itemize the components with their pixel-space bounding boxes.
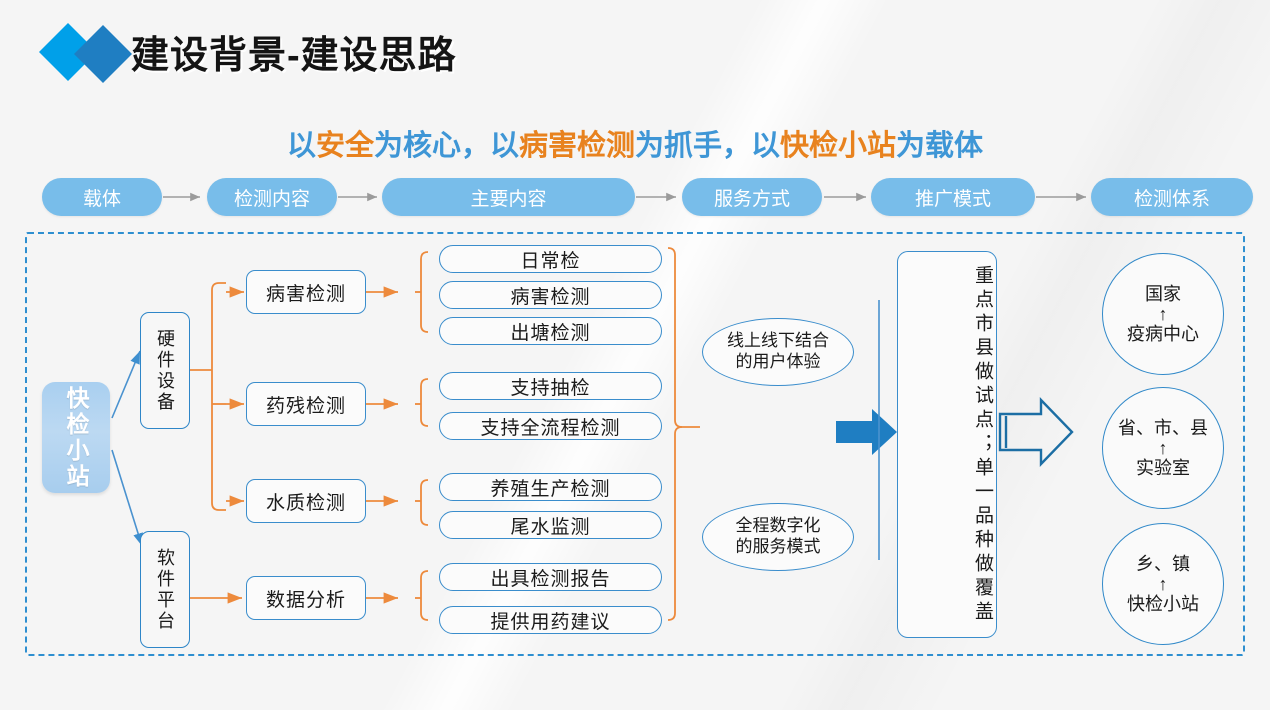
node-hardware-equipment[interactable]: 硬件设备	[140, 312, 190, 429]
node-category-disease[interactable]: 病害检测	[246, 270, 366, 314]
oval-line-2: 的服务模式	[736, 537, 821, 558]
node-leaf-spot-check[interactable]: 支持抽检	[439, 372, 662, 400]
node-station[interactable]: 快检小站	[42, 382, 110, 493]
oval-line-1: 线上线下结合	[727, 331, 829, 352]
circle-bottom-label: 实验室	[1136, 458, 1190, 478]
node-pilot-strategy[interactable]: 重点市县做试点；单一品种做覆盖	[897, 251, 997, 638]
up-arrow-icon: ↑	[1159, 439, 1168, 457]
node-software-platform[interactable]: 软件平台	[140, 531, 190, 648]
node-leaf-tail-water[interactable]: 尾水监测	[439, 511, 662, 539]
node-leaf-aqua-production[interactable]: 养殖生产检测	[439, 473, 662, 501]
node-leaf-drug-advice[interactable]: 提供用药建议	[439, 606, 662, 634]
node-leaf-disease-check[interactable]: 病害检测	[439, 281, 662, 309]
node-oval-digital-service[interactable]: 全程数字化 的服务模式	[702, 503, 854, 571]
node-leaf-daily-check[interactable]: 日常检	[439, 245, 662, 273]
oval-line-2: 的用户体验	[736, 352, 821, 373]
diagram-connectors-layer	[0, 0, 1270, 710]
oval-line-1: 全程数字化	[736, 516, 821, 537]
circle-bottom-label: 疫病中心	[1127, 324, 1199, 344]
node-circle-provincial[interactable]: 省、市、县 ↑ 实验室	[1102, 387, 1224, 509]
node-circle-township[interactable]: 乡、镇 ↑ 快检小站	[1102, 523, 1224, 645]
node-category-water[interactable]: 水质检测	[246, 479, 366, 523]
node-leaf-full-process[interactable]: 支持全流程检测	[439, 412, 662, 440]
node-circle-national[interactable]: 国家 ↑ 疫病中心	[1102, 253, 1224, 375]
circle-top-label: 乡、镇	[1136, 554, 1190, 574]
node-category-residue[interactable]: 药残检测	[246, 382, 366, 426]
node-category-analysis[interactable]: 数据分析	[246, 576, 366, 620]
circle-bottom-label: 快检小站	[1127, 594, 1199, 614]
hollow-right-arrow	[1000, 400, 1072, 464]
circle-top-label: 国家	[1145, 284, 1181, 304]
node-oval-online-offline[interactable]: 线上线下结合 的用户体验	[702, 318, 854, 386]
circle-top-label: 省、市、县	[1118, 418, 1208, 438]
node-leaf-test-report[interactable]: 出具检测报告	[439, 563, 662, 591]
solid-right-arrow	[836, 409, 897, 455]
up-arrow-icon: ↑	[1159, 305, 1168, 323]
up-arrow-icon: ↑	[1159, 575, 1168, 593]
node-leaf-pond-exit-check[interactable]: 出塘检测	[439, 317, 662, 345]
